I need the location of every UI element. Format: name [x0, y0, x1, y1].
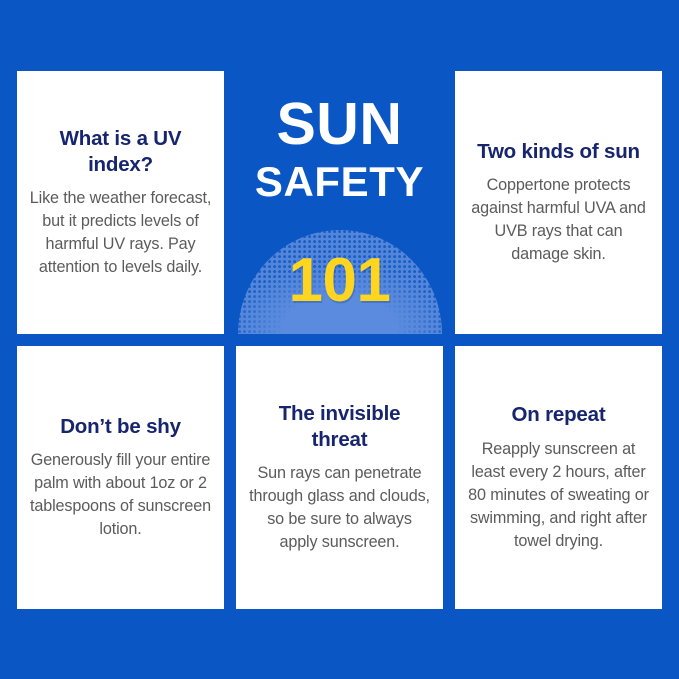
card-title: What is a UV index?: [31, 126, 211, 178]
card-two-kinds-of-sun: Two kinds of sun Coppertone protects aga…: [455, 71, 662, 334]
logo-line-sun: SUN: [236, 96, 443, 154]
card-title: Two kinds of sun: [477, 139, 640, 165]
card-body: Generously fill your entire palm with ab…: [29, 449, 212, 541]
card-grid: What is a UV index? Like the weather for…: [17, 71, 662, 609]
card-dont-be-shy: Don’t be shy Generously fill your entire…: [17, 346, 224, 609]
card-title: Don’t be shy: [60, 414, 181, 440]
logo-line-safety: SAFETY: [236, 161, 443, 204]
logo-wordmark: SUN SAFETY: [236, 71, 443, 204]
card-body: Reapply sunscreen at least every 2 hours…: [467, 438, 650, 553]
logo-badge-101: 101: [236, 250, 443, 312]
card-title: On repeat: [512, 402, 606, 428]
card-body: Coppertone protects against harmful UVA …: [467, 174, 650, 266]
card-on-repeat: On repeat Reapply sunscreen at least eve…: [455, 346, 662, 609]
card-body: Like the weather forecast, but it predic…: [29, 187, 212, 279]
card-body: Sun rays can penetrate through glass and…: [248, 462, 431, 554]
sun-safety-infographic: What is a UV index? Like the weather for…: [0, 0, 679, 679]
card-invisible-threat: The invisible threat Sun rays can penetr…: [236, 346, 443, 609]
logo-panel: SUN SAFETY 101: [236, 71, 443, 334]
card-title: The invisible threat: [250, 401, 430, 453]
card-uv-index: What is a UV index? Like the weather for…: [17, 71, 224, 334]
